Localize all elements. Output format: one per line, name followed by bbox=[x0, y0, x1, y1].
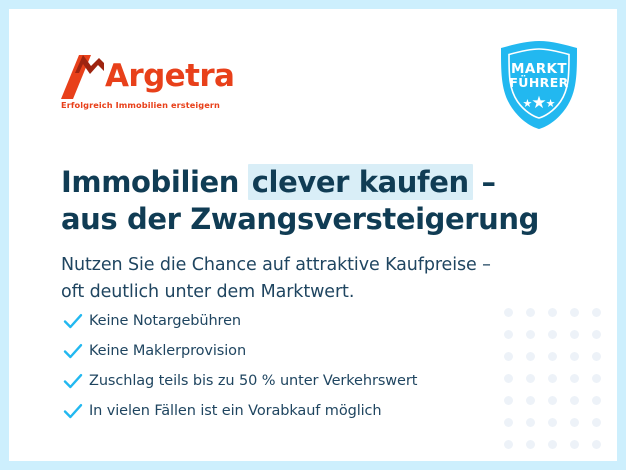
dot bbox=[504, 396, 513, 405]
dot-decoration bbox=[497, 433, 519, 455]
dot bbox=[570, 440, 579, 449]
dot bbox=[526, 352, 535, 361]
dot bbox=[592, 308, 601, 317]
dot-decoration bbox=[519, 433, 541, 455]
dot-decoration bbox=[497, 455, 519, 461]
badge-text: MARKT FÜHRER bbox=[496, 62, 582, 90]
benefits-list: Keine NotargebührenKeine Maklerprovision… bbox=[63, 307, 417, 427]
dot-decoration bbox=[497, 345, 519, 367]
house-roof-a-icon bbox=[61, 53, 105, 104]
headline-text-before: Immobilien bbox=[61, 165, 249, 199]
dot-decoration bbox=[563, 367, 585, 389]
dot bbox=[592, 352, 601, 361]
dot-decoration bbox=[497, 389, 519, 411]
dot bbox=[592, 440, 601, 449]
dot bbox=[504, 330, 513, 339]
subheadline-line-2: oft deutlich unter dem Marktwert. bbox=[61, 279, 491, 306]
headline-line-1: Immobilien clever kaufen – bbox=[61, 164, 539, 201]
subheadline: Nutzen Sie die Chance auf attraktive Kau… bbox=[61, 252, 491, 306]
dot-decoration bbox=[519, 323, 541, 345]
dot bbox=[592, 396, 601, 405]
dot bbox=[526, 396, 535, 405]
argetra-logo[interactable]: Argetra Erfolgreich Immobilien ersteiger… bbox=[61, 53, 241, 110]
dot-decoration bbox=[585, 455, 607, 461]
dot-decoration bbox=[497, 323, 519, 345]
dot bbox=[526, 330, 535, 339]
dot-decoration bbox=[497, 301, 519, 323]
badge-line-1: MARKT bbox=[496, 62, 582, 76]
dot bbox=[548, 330, 557, 339]
dot-decoration bbox=[541, 345, 563, 367]
dot-decoration bbox=[585, 433, 607, 455]
dot-decoration bbox=[585, 411, 607, 433]
dot-decoration bbox=[519, 367, 541, 389]
benefit-item: Keine Maklerprovision bbox=[63, 337, 417, 365]
dot bbox=[570, 374, 579, 383]
benefit-label: Keine Maklerprovision bbox=[89, 343, 246, 359]
dot bbox=[526, 418, 535, 427]
dot bbox=[592, 418, 601, 427]
star-icon: ★ bbox=[531, 93, 546, 112]
benefit-label: Keine Notargebühren bbox=[89, 313, 241, 329]
dot-decoration bbox=[563, 389, 585, 411]
promo-banner: Argetra Erfolgreich Immobilien ersteiger… bbox=[0, 0, 626, 470]
benefit-label: In vielen Fällen ist ein Vorabkauf mögli… bbox=[89, 403, 382, 419]
logo-row: Argetra bbox=[61, 53, 241, 99]
dot-decoration bbox=[585, 301, 607, 323]
subheadline-line-1: Nutzen Sie die Chance auf attraktive Kau… bbox=[61, 252, 491, 279]
dot-decoration bbox=[563, 455, 585, 461]
check-icon bbox=[63, 313, 89, 330]
dot-decoration bbox=[541, 367, 563, 389]
dot bbox=[570, 308, 579, 317]
dot bbox=[548, 440, 557, 449]
dot-decoration bbox=[563, 411, 585, 433]
dot-decoration bbox=[563, 301, 585, 323]
headline-line-2: aus der Zwangsversteigerung bbox=[61, 201, 539, 238]
dot bbox=[526, 374, 535, 383]
dot-decoration bbox=[541, 301, 563, 323]
dot-decoration bbox=[541, 433, 563, 455]
dot-decoration bbox=[585, 323, 607, 345]
dot bbox=[548, 308, 557, 317]
logo-wordmark: Argetra bbox=[105, 56, 234, 96]
banner-card: Argetra Erfolgreich Immobilien ersteiger… bbox=[9, 9, 617, 461]
market-leader-badge: MARKT FÜHRER ★★★ bbox=[496, 40, 582, 130]
dot-decoration bbox=[519, 345, 541, 367]
benefit-label: Zuschlag teils bis zu 50 % unter Verkehr… bbox=[89, 373, 417, 389]
check-icon bbox=[63, 373, 89, 390]
dot-decoration bbox=[519, 389, 541, 411]
dot bbox=[592, 374, 601, 383]
benefit-item: In vielen Fällen ist ein Vorabkauf mögli… bbox=[63, 397, 417, 425]
dot-decoration bbox=[519, 411, 541, 433]
dot bbox=[548, 374, 557, 383]
dot bbox=[504, 440, 513, 449]
headline-text-after: – bbox=[472, 165, 496, 199]
dot-decoration bbox=[585, 389, 607, 411]
dot bbox=[504, 352, 513, 361]
dot-decoration bbox=[585, 367, 607, 389]
dot bbox=[504, 374, 513, 383]
dot-decoration bbox=[497, 411, 519, 433]
dot-grid-decoration bbox=[497, 301, 607, 461]
dot-decoration bbox=[541, 389, 563, 411]
dot bbox=[526, 308, 535, 317]
dot bbox=[504, 418, 513, 427]
star-icon: ★ bbox=[546, 98, 556, 110]
badge-stars: ★★★ bbox=[496, 94, 582, 112]
dot-decoration bbox=[519, 301, 541, 323]
dot bbox=[570, 396, 579, 405]
dot-decoration bbox=[563, 345, 585, 367]
dot bbox=[570, 330, 579, 339]
dot bbox=[592, 330, 601, 339]
dot-decoration bbox=[585, 345, 607, 367]
dot-decoration bbox=[541, 323, 563, 345]
dot-decoration bbox=[563, 323, 585, 345]
dot-decoration bbox=[563, 433, 585, 455]
dot bbox=[526, 440, 535, 449]
dot-decoration bbox=[541, 455, 563, 461]
dot bbox=[570, 418, 579, 427]
benefit-item: Zuschlag teils bis zu 50 % unter Verkehr… bbox=[63, 367, 417, 395]
dot bbox=[548, 352, 557, 361]
benefit-item: Keine Notargebühren bbox=[63, 307, 417, 335]
headline: Immobilien clever kaufen – aus der Zwang… bbox=[61, 164, 539, 238]
dot bbox=[548, 418, 557, 427]
dot bbox=[548, 396, 557, 405]
dot-decoration bbox=[497, 367, 519, 389]
check-icon bbox=[63, 343, 89, 360]
dot-decoration bbox=[541, 411, 563, 433]
dot bbox=[504, 308, 513, 317]
headline-highlight: clever kaufen bbox=[248, 164, 473, 200]
badge-line-2: FÜHRER bbox=[496, 76, 582, 90]
dot-decoration bbox=[519, 455, 541, 461]
dot bbox=[570, 352, 579, 361]
check-icon bbox=[63, 403, 89, 420]
